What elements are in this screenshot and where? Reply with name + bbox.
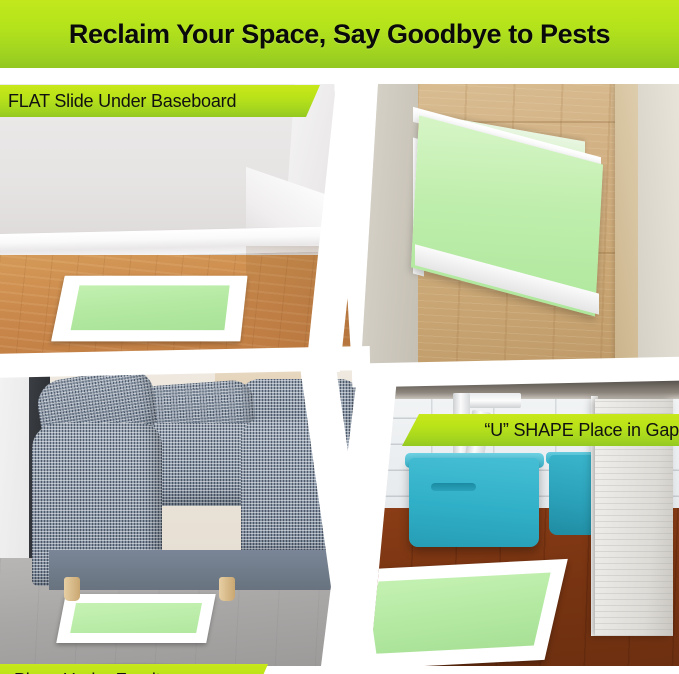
cabinet-top-shadow [369, 378, 679, 399]
glue-trap-under-sofa [56, 594, 216, 643]
label-text-flat: FLAT Slide Under Baseboard [8, 91, 236, 112]
glue-trap-pad [369, 573, 551, 654]
sofa-leg [219, 577, 234, 601]
wall-right-surface [638, 68, 679, 364]
label-text-u-shape: “U” SHAPE Place in Gap [484, 420, 679, 441]
glue-trap-cabinet [369, 559, 568, 670]
sofa-arm-right [241, 418, 358, 555]
label-text-furniture: Place Under Furniture [14, 670, 186, 674]
header-banner: Reclaim Your Space, Say Goodbye to Pests [0, 0, 679, 68]
glue-trap-pad [70, 285, 230, 329]
panel-flat-baseboard [0, 82, 351, 356]
storage-bin-primary [409, 458, 539, 547]
panel-u-shape-gap [361, 68, 679, 364]
floor-shadow [246, 246, 351, 356]
storage-bin-interior [431, 483, 475, 491]
glue-trap-pad [70, 603, 202, 633]
label-banner-u-shape: “U” SHAPE Place in Gap [402, 414, 679, 446]
page-title: Reclaim Your Space, Say Goodbye to Pests [69, 19, 610, 50]
sofa-leg [64, 577, 79, 601]
label-banner-furniture: Place Under Furniture [0, 664, 282, 674]
panel-under-furniture [0, 368, 358, 674]
pest-trap-infographic: Reclaim Your Space, Say Goodbye to Pests [0, 0, 679, 674]
sofa-base-skirt [49, 550, 338, 590]
sofa [21, 374, 358, 594]
photo-collage: FLAT Slide Under Baseboard “U” SHAPE Pla… [0, 68, 679, 674]
glue-trap-flat [51, 276, 247, 341]
label-banner-flat: FLAT Slide Under Baseboard [0, 85, 328, 117]
